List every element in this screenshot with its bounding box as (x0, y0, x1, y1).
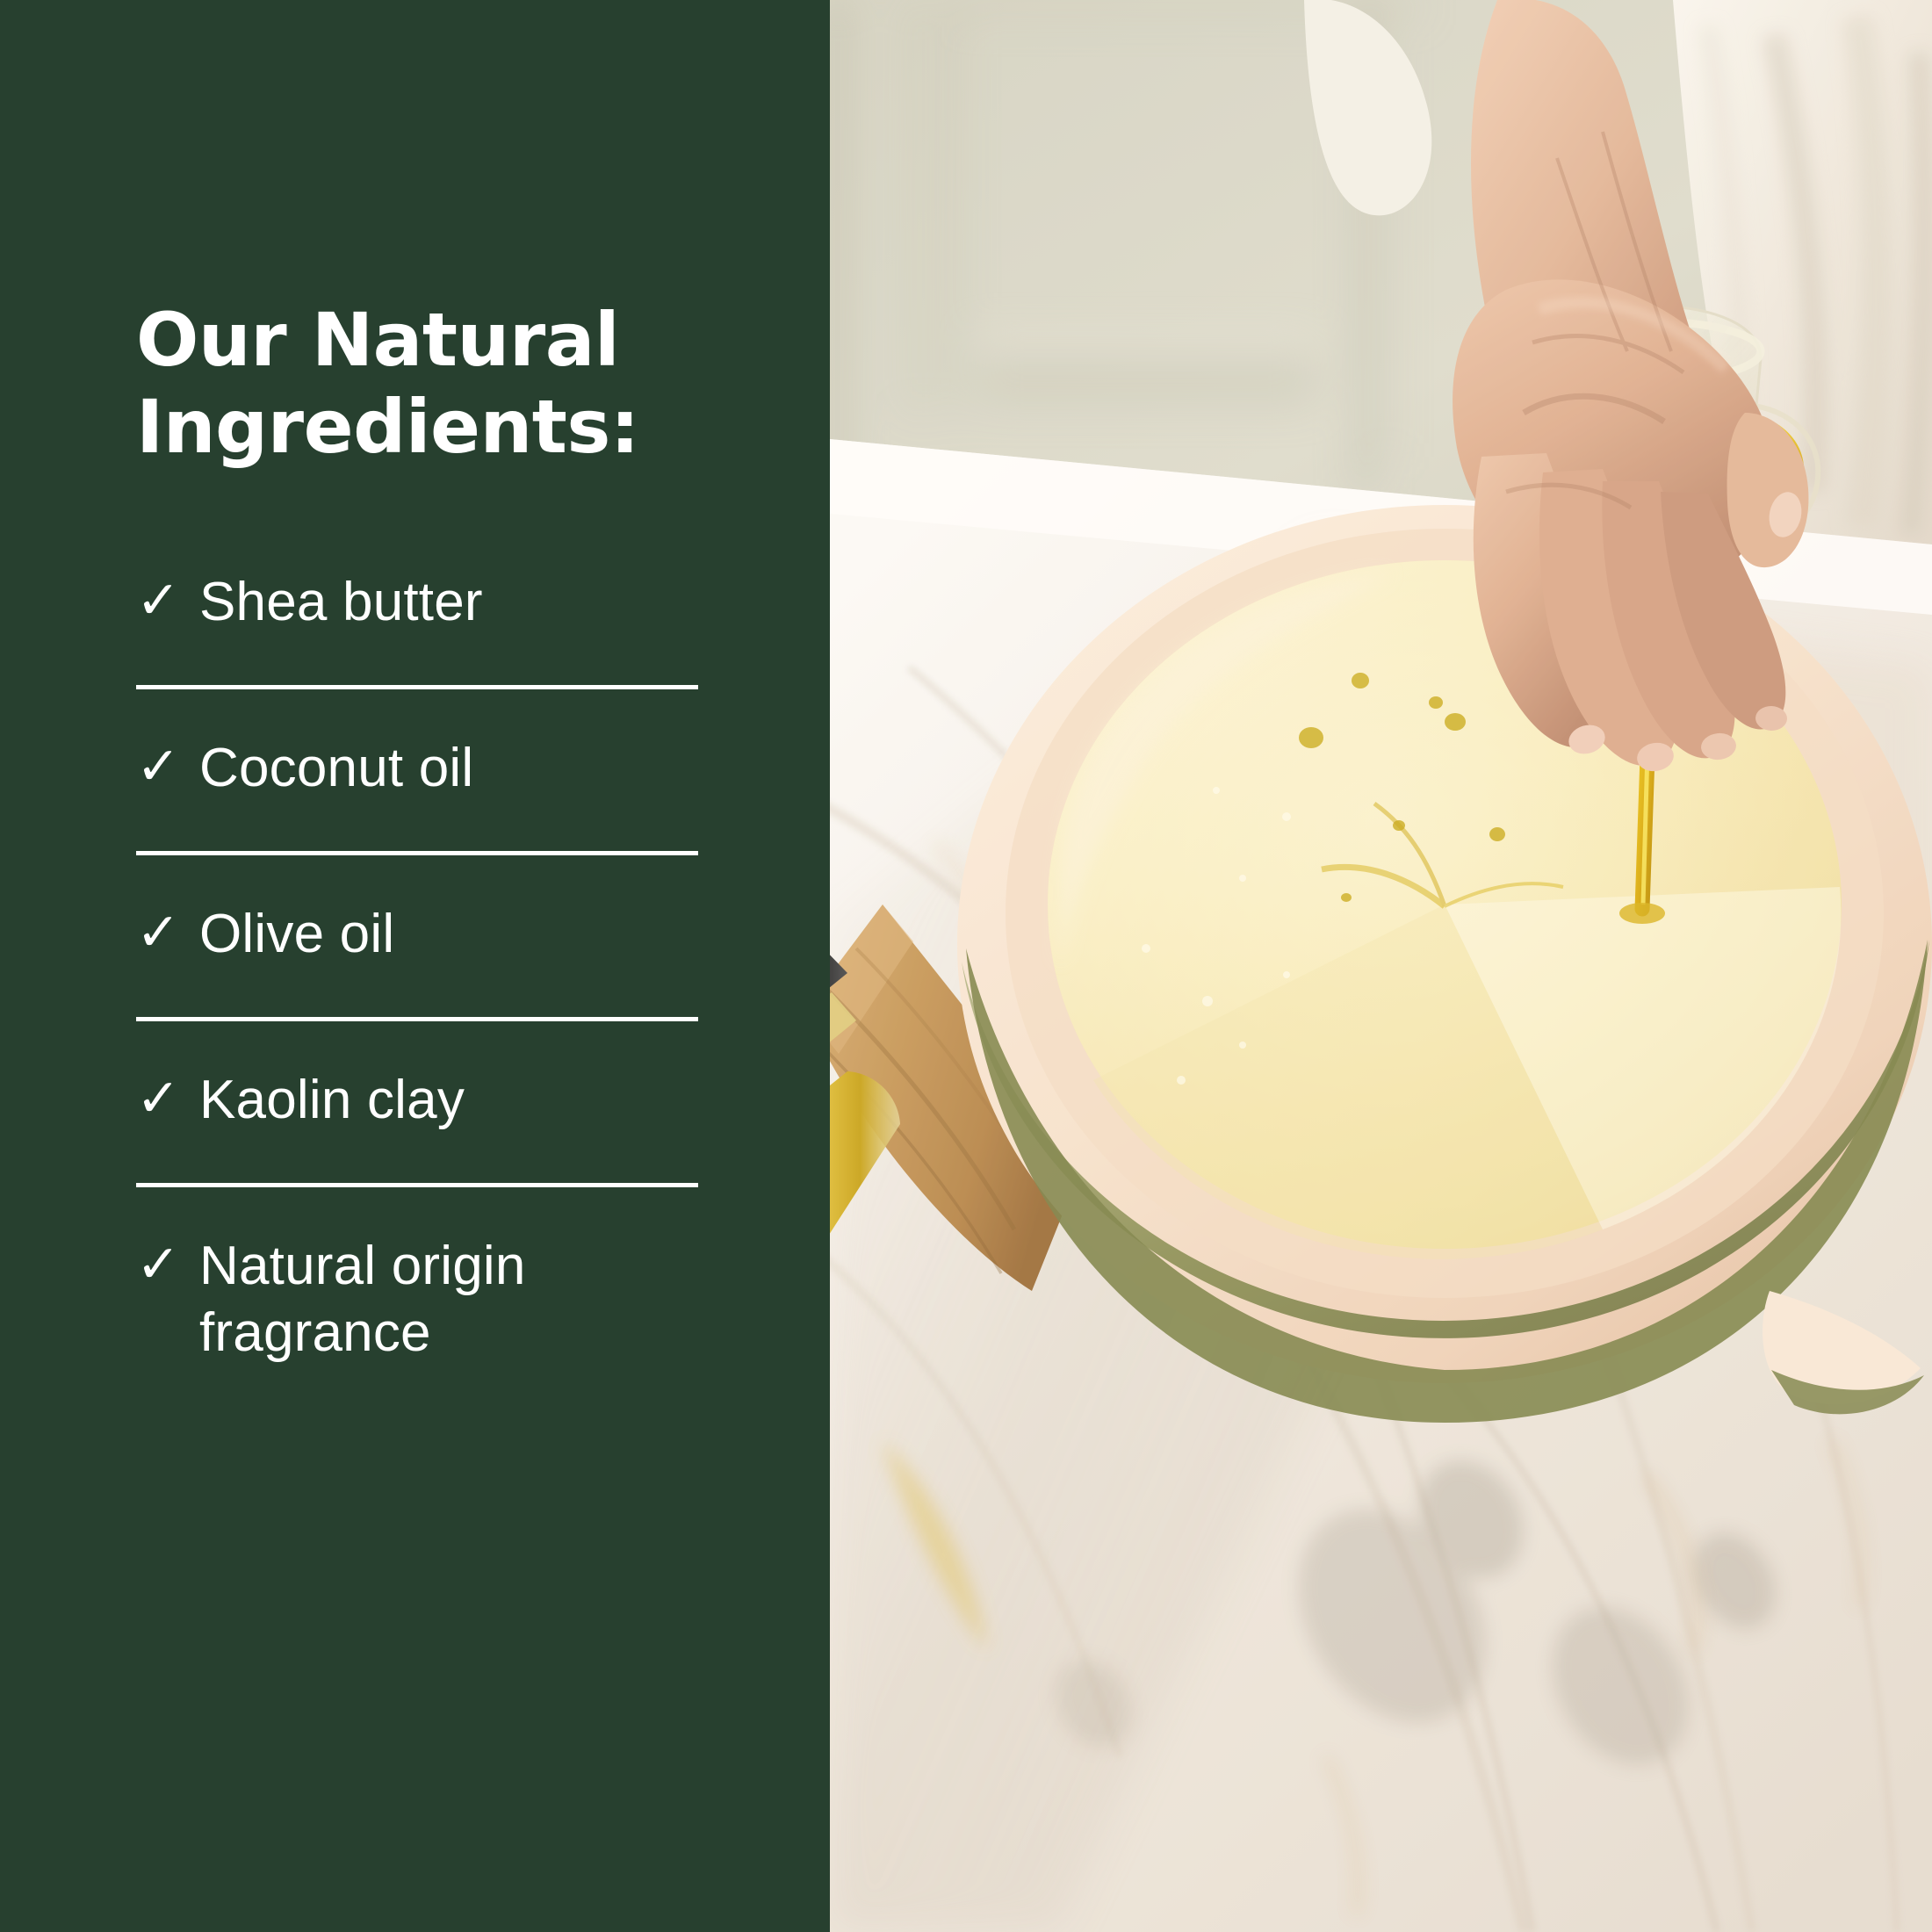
ingredients-promo-graphic: Our Natural Ingredients: ✓ Shea butter ✓… (0, 0, 1932, 1932)
spacer (136, 689, 698, 735)
ingredient-label: Coconut oil (199, 735, 698, 802)
spacer (136, 802, 698, 851)
photo-warm-wash (830, 0, 1932, 1932)
check-icon: ✓ (136, 1067, 199, 1131)
ingredient-list: ✓ Shea butter ✓ Coconut oil (136, 569, 698, 1366)
list-item: ✓ Kaolin clay (136, 1067, 698, 1134)
ingredient-item-natural-origin-fragrance: ✓ Natural origin fragrance (136, 1233, 698, 1366)
check-icon: ✓ (136, 569, 199, 633)
photo-illustration (830, 0, 1932, 1932)
ingredient-label: Shea butter (199, 569, 698, 636)
ingredient-label: Natural origin fragrance (199, 1233, 698, 1366)
spacer (136, 1021, 698, 1067)
ingredient-item-kaolin-clay: ✓ Kaolin clay (136, 1067, 698, 1134)
list-item: ✓ Olive oil (136, 901, 698, 968)
product-process-photo (830, 0, 1932, 1932)
spacer (136, 968, 698, 1017)
list-item: ✓ Shea butter (136, 569, 698, 636)
panel-content: Our Natural Ingredients: ✓ Shea butter ✓… (136, 297, 716, 1366)
spacer (136, 636, 698, 685)
ingredient-item-coconut-oil: ✓ Coconut oil (136, 735, 698, 802)
check-icon: ✓ (136, 735, 199, 799)
page-title: Our Natural Ingredients: (136, 297, 716, 471)
ingredient-label: Olive oil (199, 901, 698, 968)
spacer (136, 1134, 698, 1183)
list-item: ✓ Natural origin fragrance (136, 1233, 698, 1366)
ingredient-item-olive-oil: ✓ Olive oil (136, 901, 698, 968)
ingredient-item-shea-butter: ✓ Shea butter (136, 569, 698, 636)
spacer (136, 1187, 698, 1233)
ingredients-panel: Our Natural Ingredients: ✓ Shea butter ✓… (0, 0, 830, 1932)
check-icon: ✓ (136, 901, 199, 965)
ingredient-label: Kaolin clay (199, 1067, 698, 1134)
list-item: ✓ Coconut oil (136, 735, 698, 802)
check-icon: ✓ (136, 1233, 199, 1297)
spacer (136, 855, 698, 901)
